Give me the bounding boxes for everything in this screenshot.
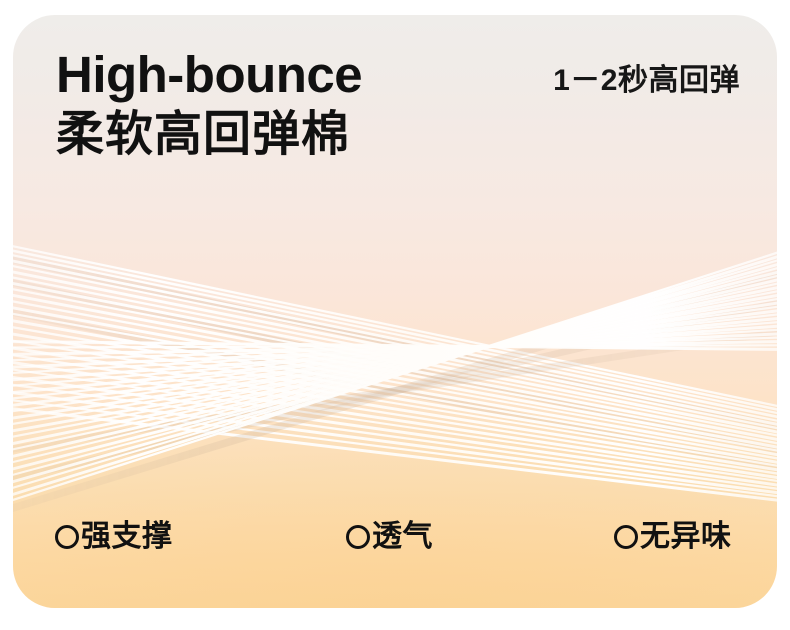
hollow-circle-icon [614,525,638,549]
headline-chinese: 柔软高回弹棉 [56,107,362,163]
feature-item-breathable: 透气 [346,520,433,554]
feature-list: 强支撑 透气 无异味 [13,520,777,564]
headline-english: High-bounce [56,47,362,103]
hollow-circle-icon [55,525,79,549]
screenshot-root: High-bounce 柔软高回弹棉 1－2秒高回弹 强支撑 透气 无异味 [0,0,790,630]
feature-item-odorless: 无异味 [614,520,732,554]
spec-label-rebound-time: 1－2秒高回弹 [553,63,740,99]
product-feature-card: High-bounce 柔软高回弹棉 1－2秒高回弹 强支撑 透气 无异味 [13,15,777,608]
fiber-bundle-ascending [13,248,777,515]
feature-label-odorless: 无异味 [640,520,732,554]
fiber-bundle-descending [13,243,777,503]
hollow-circle-icon [346,525,370,549]
feature-item-support: 强支撑 [55,520,173,554]
feature-label-support: 强支撑 [81,520,173,554]
feature-label-breathable: 透气 [372,520,433,554]
headline-block: High-bounce 柔软高回弹棉 [56,47,362,163]
